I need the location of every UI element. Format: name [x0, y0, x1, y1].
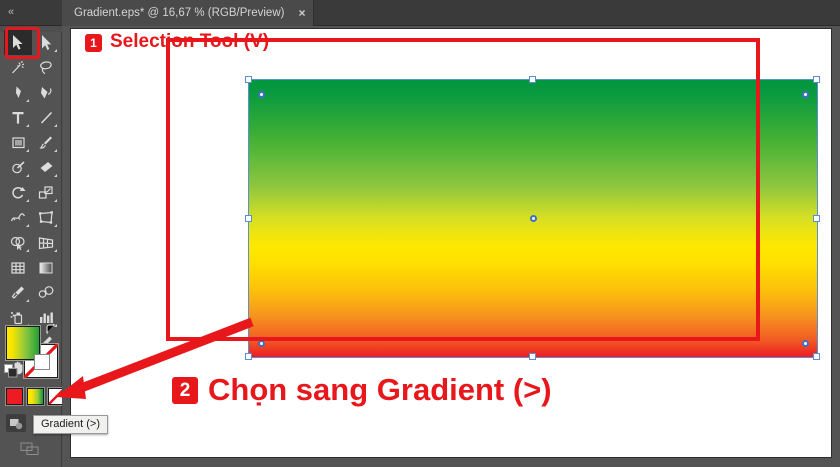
rectangle-shape-icon	[10, 134, 27, 151]
free-transform-icon	[37, 209, 55, 226]
tool-shaper-tool[interactable]	[4, 155, 32, 180]
tool-direct-selection-tool[interactable]	[32, 30, 60, 55]
eyedropper-icon	[10, 284, 27, 301]
swap-arrow-icon	[44, 322, 58, 336]
annotation-text-2: Chọn sang Gradient (>)	[208, 372, 552, 408]
line-diagonal-icon	[38, 109, 55, 126]
illustrator-window: « Gradient.eps* @ 16,67 % (RGB/Preview) …	[0, 0, 840, 467]
overlapping-rects-icon	[20, 442, 42, 456]
tool-magic-wand-tool[interactable]	[4, 55, 32, 80]
gradient-tooltip: Gradient (>)	[33, 415, 108, 434]
flyout-indicator-icon	[26, 224, 29, 227]
annotation-badge-2: 2	[172, 377, 198, 404]
collapse-panels-icon[interactable]: «	[8, 4, 30, 20]
close-icon[interactable]: ×	[298, 7, 305, 19]
annotation-badge-1: 1	[85, 34, 102, 52]
tool-eyedropper-tool[interactable]	[4, 280, 32, 305]
tool-eraser-tool[interactable]	[32, 155, 60, 180]
flyout-indicator-icon	[54, 249, 57, 252]
perspective-grid-icon	[37, 234, 55, 251]
tool-curvature-tool[interactable]	[32, 80, 60, 105]
tool-perspective-grid-tool[interactable]	[32, 230, 60, 255]
edit-toolbar-button[interactable]	[18, 440, 44, 458]
gradient-swatch-icon	[37, 259, 55, 276]
flyout-indicator-icon	[54, 149, 57, 152]
shaper-pencil-icon	[10, 159, 27, 176]
fill-stroke-indicator	[6, 326, 58, 378]
gradient-rectangle[interactable]	[249, 80, 817, 357]
tool-pen-tool[interactable]	[4, 80, 32, 105]
flyout-indicator-icon	[26, 199, 29, 202]
gradient-swatch[interactable]	[27, 388, 44, 405]
tool-line-segment-tool[interactable]	[32, 105, 60, 130]
flyout-indicator-icon	[26, 299, 29, 302]
document-tab[interactable]: Gradient.eps* @ 16,67 % (RGB/Preview) ×	[62, 0, 314, 26]
shape-builder-icon	[9, 234, 27, 251]
tool-lasso-tool[interactable]	[32, 55, 60, 80]
default-fill-stroke-icon[interactable]	[4, 364, 18, 378]
tool-scale-tool[interactable]	[32, 180, 60, 205]
default-colors-icon	[4, 364, 18, 378]
flyout-indicator-icon	[54, 199, 57, 202]
magic-wand-icon	[9, 59, 27, 76]
document-tab-bar: « Gradient.eps* @ 16,67 % (RGB/Preview) …	[0, 0, 840, 26]
cursor-arrow-icon	[11, 34, 26, 51]
paintbrush-icon	[38, 134, 55, 151]
screen-mode-icon	[9, 417, 23, 430]
cursor-arrow-white-icon	[39, 34, 53, 51]
eraser-icon	[38, 159, 55, 176]
tool-rotate-tool[interactable]	[4, 180, 32, 205]
stroke-inner	[34, 354, 50, 370]
symbol-sprayer-icon	[9, 309, 27, 326]
tool-width-tool[interactable]	[4, 205, 32, 230]
document-tab-title: Gradient.eps* @ 16,67 % (RGB/Preview)	[74, 7, 284, 19]
tools-panel	[0, 26, 62, 467]
tool-free-transform-tool[interactable]	[32, 205, 60, 230]
tool-type-tool[interactable]	[4, 105, 32, 130]
annotation-text-1: Selection Tool (V)	[110, 31, 269, 53]
flyout-indicator-icon	[54, 224, 57, 227]
tool-gradient-tool[interactable]	[32, 255, 60, 280]
swap-fill-stroke-icon[interactable]	[44, 322, 58, 336]
tool-mesh-tool[interactable]	[4, 255, 32, 280]
flyout-indicator-icon	[26, 174, 29, 177]
flyout-indicator-icon	[26, 124, 29, 127]
scale-squares-icon	[37, 184, 55, 201]
flyout-indicator-icon	[54, 124, 57, 127]
flyout-indicator-icon	[26, 149, 29, 152]
mesh-grid-icon	[9, 259, 27, 276]
flyout-indicator-icon	[26, 249, 29, 252]
tool-shape-builder-tool[interactable]	[4, 230, 32, 255]
rotate-arrow-icon	[10, 184, 27, 201]
tool-selection-tool[interactable]	[4, 30, 32, 55]
lasso-icon	[37, 59, 55, 76]
color-mode-swatches	[6, 388, 65, 405]
pen-nib-icon	[10, 84, 27, 101]
tool-paintbrush-tool[interactable]	[32, 130, 60, 155]
flyout-indicator-icon	[54, 174, 57, 177]
color-swatch[interactable]	[6, 388, 23, 405]
blend-circles-icon	[37, 284, 55, 301]
curvature-pen-icon	[37, 84, 55, 101]
tool-rectangle-tool[interactable]	[4, 130, 32, 155]
change-screen-mode-button[interactable]	[6, 414, 26, 432]
width-warp-icon	[9, 209, 27, 226]
type-t-icon	[10, 109, 26, 126]
tool-blend-tool[interactable]	[32, 280, 60, 305]
flyout-indicator-icon	[54, 49, 57, 52]
flyout-indicator-icon	[26, 99, 29, 102]
